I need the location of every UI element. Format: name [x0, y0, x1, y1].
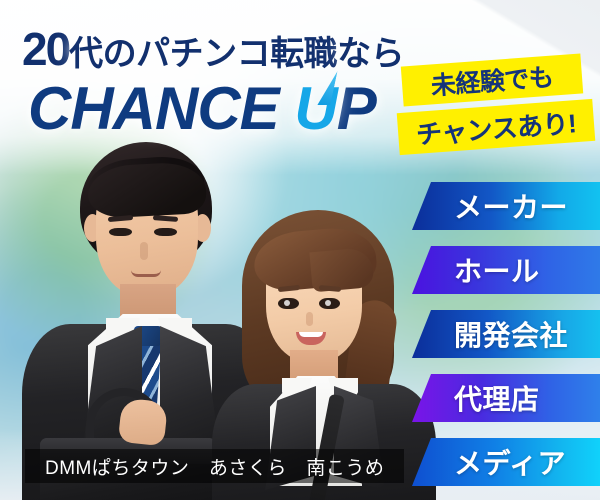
- category-item-agency[interactable]: 代理店: [412, 374, 600, 422]
- headline-body: 代のパチンコ転職: [69, 35, 337, 73]
- people-photo: [0, 120, 430, 500]
- woman-nose: [306, 312, 313, 326]
- chance-up-logo: CHANCE UP: [28, 74, 376, 143]
- man-eye-left: [109, 228, 132, 236]
- experience-badge: 未経験でも チャンスあり!: [398, 58, 598, 156]
- category-list: メーカー ホール 開発会社 代理店 メディア: [412, 182, 600, 486]
- headline-number: 20: [22, 23, 69, 75]
- man-mouth: [131, 270, 161, 277]
- category-item-media[interactable]: メディア: [412, 438, 600, 486]
- badge-line-2: チャンスあり!: [397, 99, 596, 155]
- photo-credit-caption: DMMぱちタウン あさくら 南こうめ: [25, 449, 404, 483]
- logo-word-chance: CHANCE: [28, 75, 294, 142]
- woman-eye-right: [319, 298, 340, 309]
- badge-line-1: 未経験でも: [401, 53, 583, 106]
- logo-letter-p: P: [337, 75, 376, 142]
- woman-eye-left: [278, 298, 299, 309]
- headline-tail: なら: [337, 35, 404, 73]
- logo-letter-u-arrow-icon: U: [294, 75, 336, 142]
- category-item-maker[interactable]: メーカー: [412, 182, 600, 230]
- headline-text: 20代のパチンコ転職なら: [22, 22, 404, 76]
- category-item-developer[interactable]: 開発会社: [412, 310, 600, 358]
- category-item-hall[interactable]: ホール: [412, 246, 600, 294]
- man-nose: [140, 242, 148, 260]
- man-eye-right: [154, 228, 177, 236]
- recruitment-banner[interactable]: 20代のパチンコ転職なら CHANCE UP 未経験でも チャンスあり! メーカ…: [0, 0, 600, 500]
